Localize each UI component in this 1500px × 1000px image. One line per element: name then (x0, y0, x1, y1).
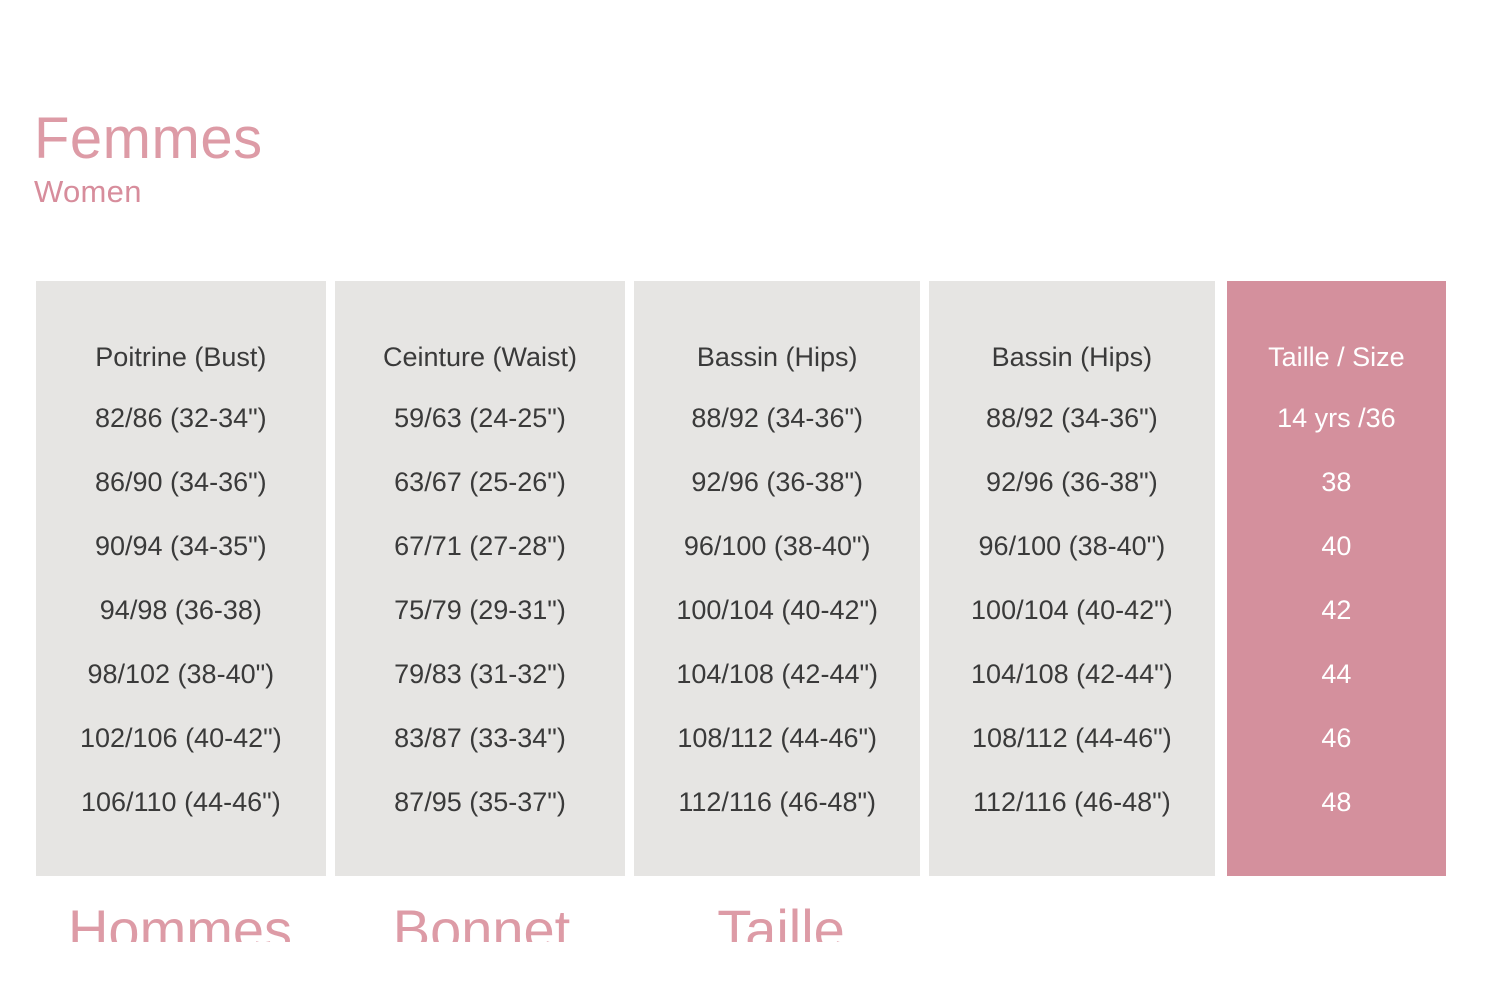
table-cell: 86/90 (34-36") (95, 450, 267, 514)
next-section-label-1: Hommes (34, 902, 326, 942)
page-title: Femmes Women (34, 108, 263, 210)
table-cell: 48 (1321, 770, 1351, 834)
table-cell: 92/96 (36-38") (691, 450, 863, 514)
column-bust: Poitrine (Bust) 82/86 (32-34") 86/90 (34… (36, 281, 326, 876)
table-cell: 44 (1321, 642, 1351, 706)
table-cell: 108/112 (44-46") (677, 706, 877, 770)
table-cell: 14 yrs /36 (1277, 386, 1396, 450)
column-header-bust: Poitrine (Bust) (95, 328, 266, 386)
column-header-hips-2: Bassin (Hips) (992, 328, 1153, 386)
column-hips-2: Bassin (Hips) 88/92 (34-36") 92/96 (36-3… (929, 281, 1215, 876)
table-cell: 100/104 (40-42") (676, 578, 878, 642)
table-cell: 59/63 (24-25") (394, 386, 566, 450)
table-cell: 100/104 (40-42") (971, 578, 1173, 642)
table-cell: 94/98 (36-38) (100, 578, 262, 642)
table-cell: 112/116 (46-48") (678, 770, 876, 834)
column-header-hips-1: Bassin (Hips) (697, 328, 858, 386)
table-cell: 40 (1321, 514, 1351, 578)
table-cell: 112/116 (46-48") (973, 770, 1171, 834)
table-cell: 104/108 (42-44") (971, 642, 1173, 706)
size-chart-table: Poitrine (Bust) 82/86 (32-34") 86/90 (34… (36, 281, 1446, 876)
next-section-heading-clipped: Hommes Bonnet Taille (34, 902, 1444, 942)
column-waist: Ceinture (Waist) 59/63 (24-25") 63/67 (2… (335, 281, 626, 876)
table-cell: 92/96 (36-38") (986, 450, 1158, 514)
table-cell: 88/92 (34-36") (986, 386, 1158, 450)
table-cell: 75/79 (29-31") (394, 578, 566, 642)
table-cell: 38 (1321, 450, 1351, 514)
table-cell: 42 (1321, 578, 1351, 642)
title-english: Women (34, 174, 263, 210)
column-header-waist: Ceinture (Waist) (383, 328, 577, 386)
table-cell: 102/106 (40-42") (80, 706, 282, 770)
table-cell: 106/110 (44-46") (81, 770, 281, 834)
table-cell: 67/71 (27-28") (394, 514, 566, 578)
table-cell: 79/83 (31-32") (394, 642, 566, 706)
table-cell: 87/95 (35-37") (394, 770, 566, 834)
table-cell: 88/92 (34-36") (691, 386, 863, 450)
table-cell: 83/87 (33-34") (394, 706, 566, 770)
column-size: Taille / Size 14 yrs /36 38 40 42 44 46 … (1227, 281, 1446, 876)
column-hips-1: Bassin (Hips) 88/92 (34-36") 92/96 (36-3… (634, 281, 920, 876)
table-cell: 98/102 (38-40") (87, 642, 274, 706)
next-section-label-2: Bonnet (335, 902, 628, 942)
size-chart-page: Femmes Women Poitrine (Bust) 82/86 (32-3… (0, 0, 1500, 1000)
table-cell: 104/108 (42-44") (676, 642, 878, 706)
next-section-label-3: Taille (637, 902, 925, 942)
table-cell: 96/100 (38-40") (684, 514, 871, 578)
table-cell: 96/100 (38-40") (979, 514, 1166, 578)
table-cell: 63/67 (25-26") (394, 450, 566, 514)
table-cell: 90/94 (34-35") (95, 514, 267, 578)
column-header-size: Taille / Size (1268, 328, 1405, 386)
table-cell: 46 (1321, 706, 1351, 770)
table-cell: 82/86 (32-34") (95, 386, 267, 450)
title-french: Femmes (34, 108, 263, 170)
table-cell: 108/112 (44-46") (972, 706, 1172, 770)
